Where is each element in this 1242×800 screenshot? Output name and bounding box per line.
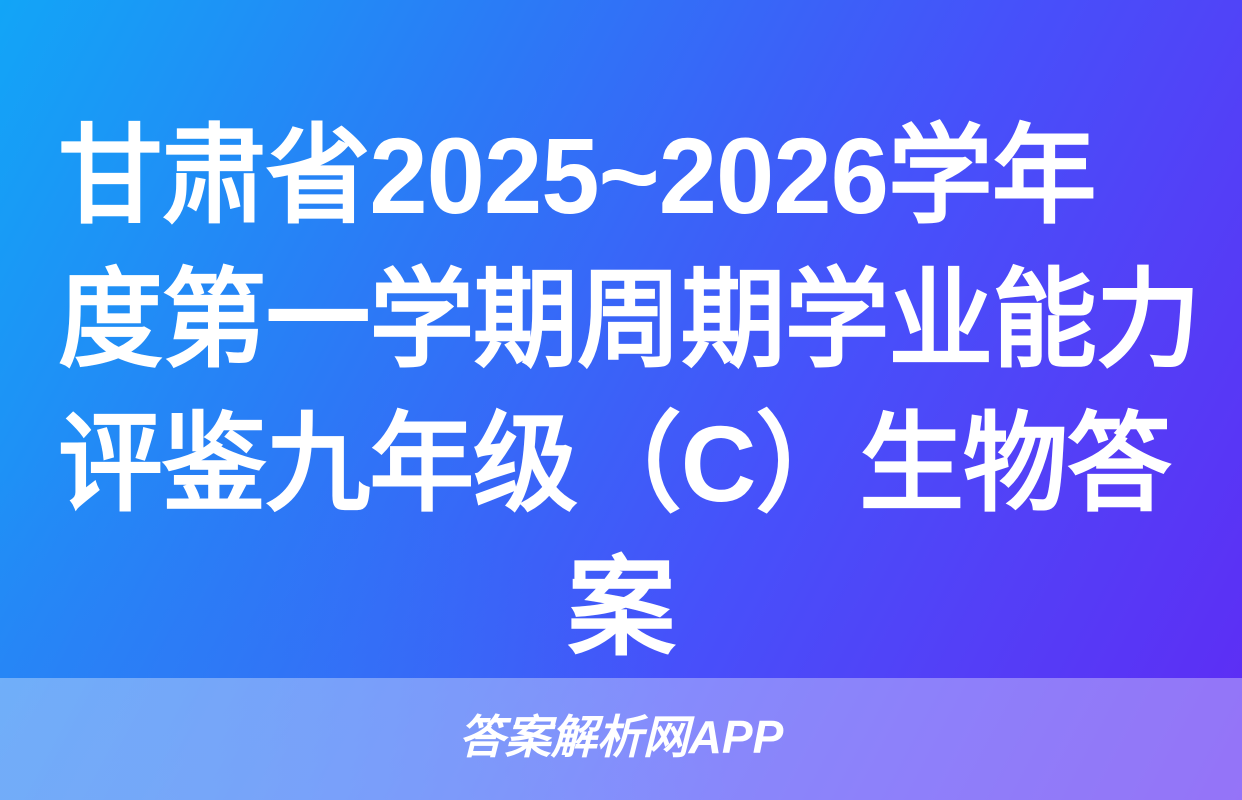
title-line-3: 评鉴九年级（C）生物答 [58,392,1150,536]
title-line-4: 案 [58,536,1184,680]
footer-brand-band: 答案解析网APP [0,678,1242,800]
title-line-2: 度第一学期周期学业能力 [58,248,1150,392]
brand-label: 答案解析网APP [459,714,784,760]
answer-card: 甘肃省2025~2026学年 度第一学期周期学业能力 评鉴九年级（C）生物答 案… [0,0,1242,800]
page-title: 甘肃省2025~2026学年 度第一学期周期学业能力 评鉴九年级（C）生物答 案 [0,104,1242,680]
title-line-1: 甘肃省2025~2026学年 [58,104,1150,248]
